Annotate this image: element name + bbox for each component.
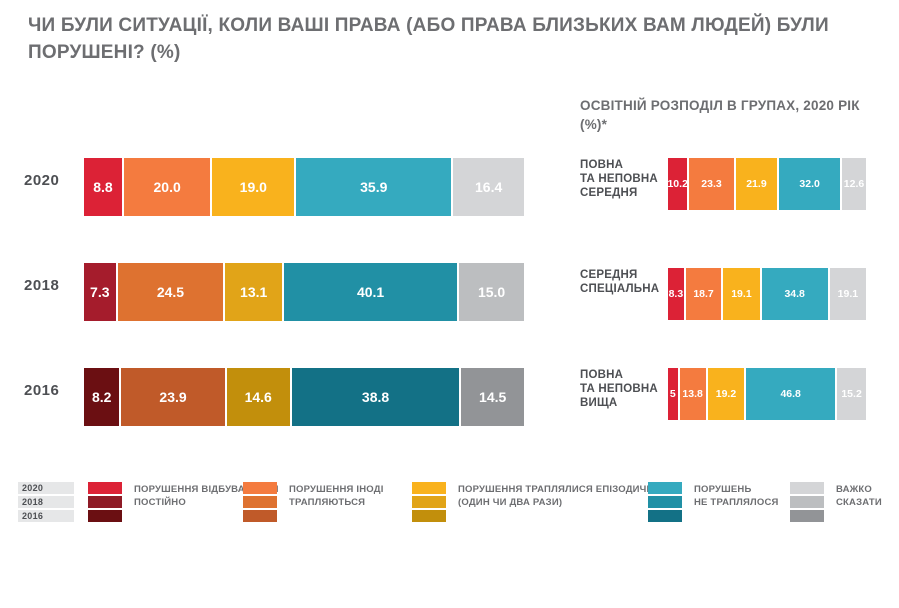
- bar-segment: 19.0: [212, 158, 296, 216]
- legend-year-label: 2018: [18, 496, 74, 508]
- row-year-label: 2018: [24, 277, 78, 294]
- legend-item: ПОРУШЕННЯ ІНОДІ ТРАПЛЯЮТЬСЯ: [243, 482, 384, 524]
- bar-segment: 15.2: [837, 368, 868, 420]
- education-breakdown-panel: ОСВІТНІЙ РОЗПОДІЛ В ГРУПАХ, 2020 РІК (%)…: [580, 96, 880, 134]
- bar-segment: 19.1: [830, 268, 868, 320]
- education-group-row: СЕРЕДНЯ СПЕЦІАЛЬНА8.318.719.134.819.1: [580, 268, 880, 326]
- legend-item: ВАЖКО СКАЗАТИ: [790, 482, 882, 524]
- main-chart: 20208.820.019.035.916.420187.324.513.140…: [0, 150, 560, 465]
- legend-swatch-band: [243, 482, 277, 494]
- legend-swatch-band: [648, 510, 682, 522]
- legend-swatch-band: [412, 482, 446, 494]
- bar-segment: 13.1: [225, 263, 284, 321]
- legend-label: ПОРУШЕННЯ ІНОДІ ТРАПЛЯЮТЬСЯ: [289, 482, 384, 509]
- bar-segment: 19.1: [723, 268, 761, 320]
- bar-segment: 18.7: [686, 268, 724, 320]
- bar-segment: 19.2: [708, 368, 746, 420]
- bar-segment: 35.9: [296, 158, 453, 216]
- legend-swatch-band: [243, 510, 277, 522]
- legend-swatch-band: [412, 510, 446, 522]
- bar-segment: 13.8: [680, 368, 708, 420]
- bar-segment: 15.0: [459, 263, 524, 321]
- legend-swatch-band: [88, 496, 122, 508]
- bar-segment: 5: [668, 368, 680, 420]
- legend-label: ПОРУШЕННЯ ТРАПЛЯЛИСЯ ЕПІЗОДИЧНО (ОДИН ЧИ…: [458, 482, 661, 509]
- bar-segment: 14.5: [461, 368, 524, 426]
- chart-legend: 202020182016 ПОРУШЕННЯ ВІДБУВАЄТЬСЯ ПОСТ…: [0, 478, 899, 532]
- education-group-label: СЕРЕДНЯ СПЕЦІАЛЬНА: [580, 268, 664, 296]
- bar-segment: 12.6: [842, 158, 868, 210]
- education-group-label: ПОВНА ТА НЕПОВНА СЕРЕДНЯ: [580, 158, 664, 200]
- bar-segment: 32.0: [779, 158, 842, 210]
- row-year-label: 2016: [24, 382, 78, 399]
- education-stacked-bar: 10.223.321.932.012.6: [668, 158, 868, 210]
- stacked-bar: 7.324.513.140.115.0: [84, 263, 524, 321]
- legend-swatch: [88, 482, 122, 524]
- legend-swatch-band: [88, 482, 122, 494]
- legend-year-label: 2016: [18, 510, 74, 522]
- bar-segment: 10.2: [668, 158, 689, 210]
- bar-segment: 14.6: [227, 368, 292, 426]
- bar-segment: 38.8: [292, 368, 462, 426]
- legend-swatch-band: [88, 510, 122, 522]
- legend-swatch-band: [790, 496, 824, 508]
- legend-swatch-band: [412, 496, 446, 508]
- legend-swatch: [412, 482, 446, 524]
- legend-item: ПОРУШЕННЯ ТРАПЛЯЛИСЯ ЕПІЗОДИЧНО (ОДИН ЧИ…: [412, 482, 661, 524]
- education-group-label: ПОВНА ТА НЕПОВНА ВИЩА: [580, 368, 664, 410]
- education-group-row: ПОВНА ТА НЕПОВНА ВИЩА513.819.246.815.2: [580, 368, 880, 426]
- bar-segment: 16.4: [453, 158, 524, 216]
- chart-row: 20208.820.019.035.916.4: [0, 150, 560, 255]
- chart-row: 20168.223.914.638.814.5: [0, 360, 560, 465]
- bar-segment: 8.3: [668, 268, 686, 320]
- legend-swatch-band: [790, 510, 824, 522]
- legend-year-keys: 202020182016: [18, 482, 74, 524]
- legend-swatch-band: [790, 482, 824, 494]
- legend-swatch: [648, 482, 682, 524]
- bar-segment: 23.9: [121, 368, 226, 426]
- bar-segment: 40.1: [284, 263, 459, 321]
- legend-swatch: [790, 482, 824, 524]
- bar-segment: 46.8: [746, 368, 837, 420]
- legend-swatch: [243, 482, 277, 524]
- bar-segment: 21.9: [736, 158, 780, 210]
- bar-segment: 34.8: [762, 268, 830, 320]
- legend-label: ПОРУШЕНЬ НЕ ТРАПЛЯЛОСЯ: [694, 482, 779, 509]
- bar-segment: 24.5: [118, 263, 226, 321]
- legend-swatch-band: [243, 496, 277, 508]
- education-group-row: ПОВНА ТА НЕПОВНА СЕРЕДНЯ10.223.321.932.0…: [580, 158, 880, 216]
- bar-segment: 8.8: [84, 158, 124, 216]
- chart-row: 20187.324.513.140.115.0: [0, 255, 560, 360]
- legend-label: ВАЖКО СКАЗАТИ: [836, 482, 882, 509]
- page-title: ЧИ БУЛИ СИТУАЦІЇ, КОЛИ ВАШІ ПРАВА (АБО П…: [28, 12, 878, 66]
- bar-segment: 8.2: [84, 368, 121, 426]
- stacked-bar: 8.223.914.638.814.5: [84, 368, 524, 426]
- row-year-label: 2020: [24, 172, 78, 189]
- education-breakdown-title: ОСВІТНІЙ РОЗПОДІЛ В ГРУПАХ, 2020 РІК (%)…: [580, 96, 860, 134]
- bar-segment: 20.0: [124, 158, 212, 216]
- legend-item: ПОРУШЕНЬ НЕ ТРАПЛЯЛОСЯ: [648, 482, 779, 524]
- education-stacked-bar: 513.819.246.815.2: [668, 368, 868, 420]
- legend-swatch-band: [648, 496, 682, 508]
- education-stacked-bar: 8.318.719.134.819.1: [668, 268, 868, 320]
- legend-swatch-band: [648, 482, 682, 494]
- stacked-bar: 8.820.019.035.916.4: [84, 158, 524, 216]
- legend-year-label: 2020: [18, 482, 74, 494]
- bar-segment: 7.3: [84, 263, 118, 321]
- bar-segment: 23.3: [689, 158, 735, 210]
